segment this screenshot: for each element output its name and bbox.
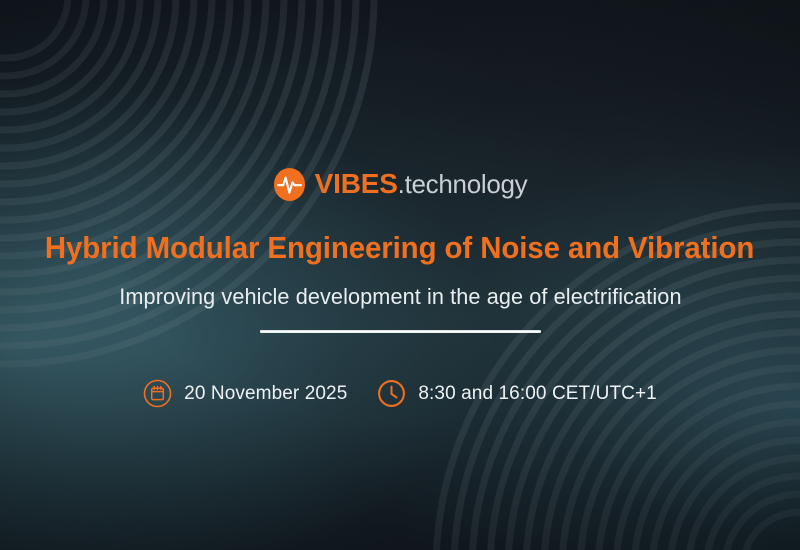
event-date: 20 November 2025 [143,379,347,408]
calendar-icon [143,379,172,408]
event-time-text: 8:30 and 16:00 CET/UTC+1 [418,384,656,403]
banner-content: VIBES.technology Hybrid Modular Engineer… [0,0,800,550]
divider [260,330,541,333]
brand-wordmark: VIBES.technology [315,170,528,198]
event-date-text: 20 November 2025 [184,384,347,403]
page-subtitle: Improving vehicle development in the age… [119,284,681,309]
clock-icon [377,379,406,408]
event-banner: VIBES.technology Hybrid Modular Engineer… [0,0,800,550]
brand-logo: VIBES.technology [273,166,528,202]
vibes-waveform-circle-icon [273,167,306,202]
event-time: 8:30 and 16:00 CET/UTC+1 [377,379,656,408]
brand-name-primary: VIBES [315,170,398,198]
event-meta-row: 20 November 2025 8:30 and 16:00 CET/UTC+… [143,379,657,408]
page-title: Hybrid Modular Engineering of Noise and … [45,232,754,266]
brand-name-secondary: .technology [398,171,528,197]
